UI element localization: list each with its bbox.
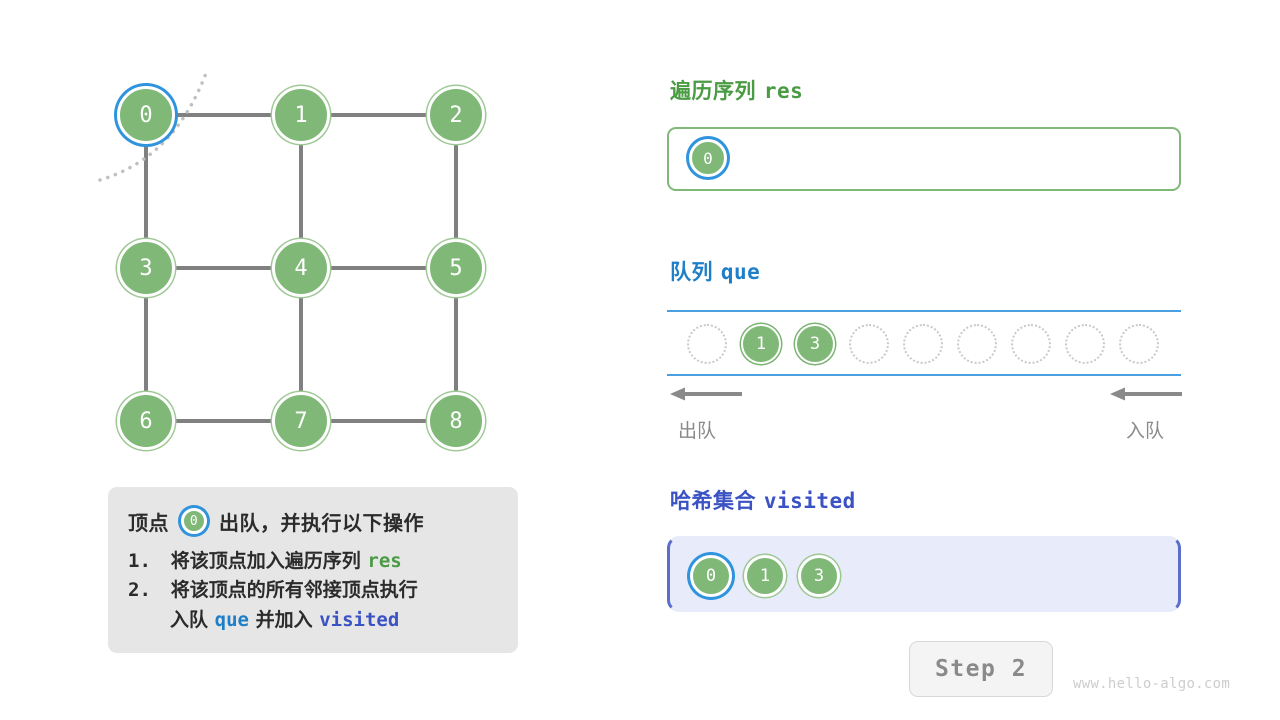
caption-step-1: 1. 将该顶点加入遍历序列 res — [128, 547, 498, 576]
queue-slot-empty-8[interactable] — [1119, 324, 1159, 364]
queue-slot-empty-5[interactable] — [957, 324, 997, 364]
visited-item-3[interactable]: 3 — [798, 555, 840, 597]
graph-node-label: 0 — [139, 103, 152, 128]
graph-node-label: 8 — [449, 409, 462, 434]
graph-node-label: 7 — [294, 409, 307, 434]
caption-step-2-num: 2. — [128, 579, 151, 601]
step-badge: Step 2 — [909, 641, 1053, 697]
queue-slot-label: 1 — [756, 334, 766, 354]
queue-slot-empty-6[interactable] — [1011, 324, 1051, 364]
graph-node-1[interactable]: 1 — [272, 86, 330, 144]
visited-item-label: 1 — [760, 566, 770, 586]
res-title-code: res — [764, 79, 803, 103]
res-section-title: 遍历序列 res — [670, 75, 803, 105]
enqueue-arrow-icon — [1110, 386, 1184, 406]
graph-node-2[interactable]: 2 — [427, 86, 485, 144]
que-section-title: 队列 que — [670, 256, 760, 286]
queue-slot-empty-0[interactable] — [687, 324, 727, 364]
visited-item-label: 0 — [706, 566, 716, 586]
graph-node-label: 1 — [294, 103, 307, 128]
caption-node-chip: 0 — [181, 508, 207, 534]
res-item-label: 0 — [703, 149, 713, 168]
queue-slot-filled-3[interactable]: 3 — [795, 324, 835, 364]
res-container: 0 — [667, 127, 1181, 191]
caption-prefix: 顶点 — [128, 507, 169, 536]
graph-node-6[interactable]: 6 — [117, 392, 175, 450]
caption-step-2-code-visited: visited — [319, 609, 399, 631]
graph-panel: 012345678 — [0, 0, 620, 480]
caption-step-2: 2. 将该顶点的所有邻接顶点执行 — [128, 576, 498, 605]
caption-step-2-text: 将该顶点的所有邻接顶点执行 — [171, 579, 418, 601]
visited-container: 013 — [667, 536, 1181, 612]
step-badge-label: Step 2 — [935, 656, 1027, 682]
caption-step-1-text: 将该顶点加入遍历序列 — [171, 550, 361, 572]
caption-step-1-code-res: res — [367, 550, 401, 572]
visited-title-cn: 哈希集合 — [670, 489, 756, 513]
res-item-0[interactable]: 0 — [689, 139, 727, 177]
visited-item-label: 3 — [814, 566, 824, 586]
enqueue-label: 入队 — [1126, 416, 1164, 443]
graph-node-4[interactable]: 4 — [272, 239, 330, 297]
graph-node-label: 6 — [139, 409, 152, 434]
visited-section-title: 哈希集合 visited — [670, 485, 856, 515]
que-title-code: que — [721, 260, 760, 284]
que-title-cn: 队列 — [670, 260, 713, 284]
graph-node-label: 3 — [139, 256, 152, 281]
visited-item-0[interactable]: 0 — [690, 555, 732, 597]
queue-slot-filled-1[interactable]: 1 — [741, 324, 781, 364]
graph-node-label: 2 — [449, 103, 462, 128]
caption-headline: 顶点 0 出队，并执行以下操作 — [128, 501, 498, 541]
queue-container: 13 — [667, 310, 1181, 376]
visited-title-code: visited — [764, 489, 856, 513]
queue-rail-bottom — [667, 374, 1181, 376]
graph-node-8[interactable]: 8 — [427, 392, 485, 450]
graph-node-label: 4 — [294, 256, 307, 281]
res-title-cn: 遍历序列 — [670, 79, 756, 103]
queue-rail-top — [667, 310, 1181, 312]
caption-node-label: 0 — [190, 514, 198, 529]
caption-step-2-cont: 入队 que 并加入 visited — [128, 606, 498, 635]
caption-step-2-mid: 并加入 — [256, 609, 313, 631]
graph-node-5[interactable]: 5 — [427, 239, 485, 297]
graph-node-7[interactable]: 7 — [272, 392, 330, 450]
caption-step-2-before: 入队 — [170, 609, 208, 631]
dequeue-arrow-icon — [670, 386, 744, 406]
graph-node-0[interactable]: 0 — [117, 86, 175, 144]
watermark: www.hello-algo.com — [1073, 676, 1230, 692]
graph-node-label: 5 — [449, 256, 462, 281]
caption-box: 顶点 0 出队，并执行以下操作 1. 将该顶点加入遍历序列 res 2. 将该顶… — [108, 487, 518, 653]
visited-item-1[interactable]: 1 — [744, 555, 786, 597]
queue-slot-label: 3 — [810, 334, 820, 354]
dequeue-label: 出队 — [678, 416, 716, 443]
queue-slot-empty-4[interactable] — [903, 324, 943, 364]
caption-suffix: 出队，并执行以下操作 — [219, 507, 424, 536]
queue-slot-empty-3[interactable] — [849, 324, 889, 364]
graph-node-3[interactable]: 3 — [117, 239, 175, 297]
queue-slot-empty-7[interactable] — [1065, 324, 1105, 364]
caption-step-2-code-que: que — [215, 609, 249, 631]
caption-step-1-num: 1. — [128, 550, 151, 572]
